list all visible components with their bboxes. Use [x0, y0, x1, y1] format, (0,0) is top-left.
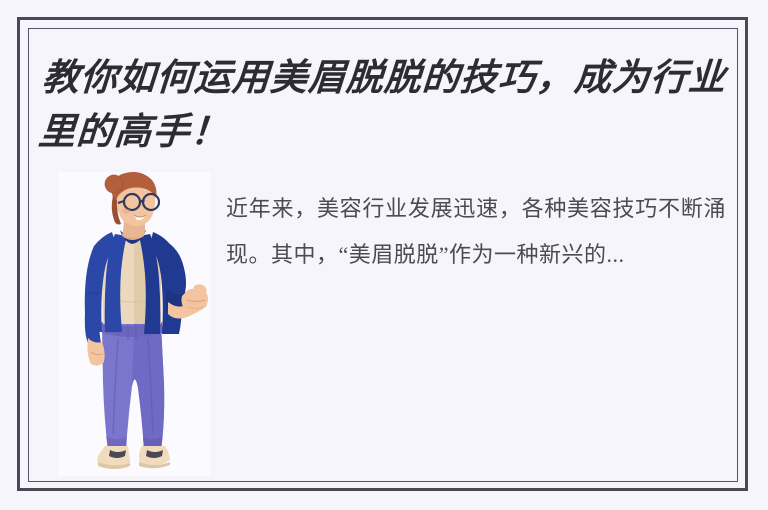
article-card: 教你如何运用美眉脱脱的技巧，成为行业里的高手！	[0, 0, 768, 510]
article-title: 教你如何运用美眉脱脱的技巧，成为行业里的高手！	[36, 52, 734, 160]
standing-person-illustration	[58, 172, 210, 476]
article-excerpt: 近年来，美容行业发展迅速，各种美容技巧不断涌现。其中，“美眉脱脱”作为一种新兴的…	[226, 186, 726, 278]
